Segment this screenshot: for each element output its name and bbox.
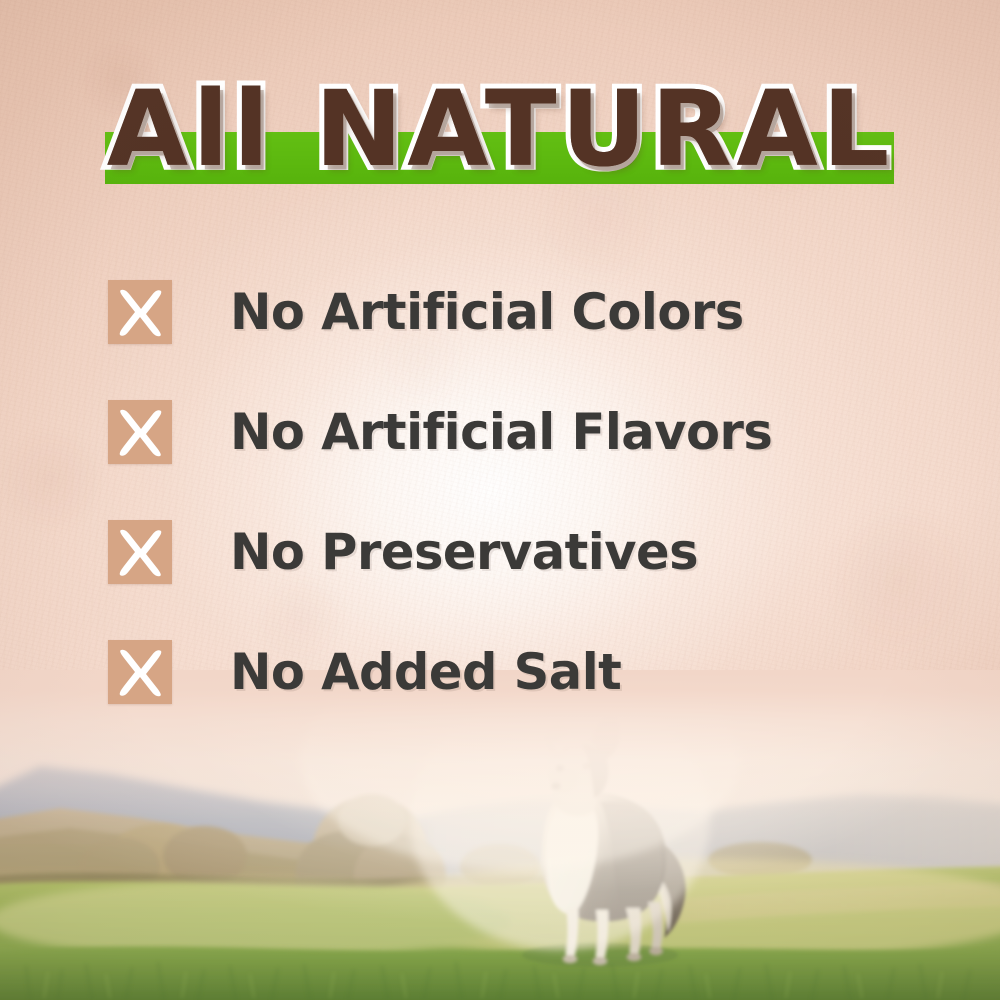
claim-label: No Added Salt (230, 647, 621, 697)
x-mark-icon-glyph (108, 640, 172, 704)
x-mark-icon (108, 640, 172, 704)
headline-green-banner (105, 132, 894, 184)
claim-label: No Preservatives (230, 527, 698, 577)
claim-label: No Artificial Colors (230, 287, 744, 337)
claims-list: No Artificial Colors No Artificial Flavo… (108, 252, 928, 732)
x-mark-icon-glyph (108, 520, 172, 584)
poster-canvas: All NATURAL All NATURAL No Artificial Co… (0, 0, 1000, 1000)
x-mark-icon-glyph (108, 400, 172, 464)
claim-label: No Artificial Flavors (230, 407, 772, 457)
x-mark-icon (108, 520, 172, 584)
claim-row: No Preservatives (108, 492, 928, 612)
x-mark-icon (108, 280, 172, 344)
claim-row: No Artificial Colors (108, 252, 928, 372)
claim-row: No Added Salt (108, 612, 928, 732)
claim-row: No Artificial Flavors (108, 372, 928, 492)
x-mark-icon (108, 400, 172, 464)
x-mark-icon-glyph (108, 280, 172, 344)
